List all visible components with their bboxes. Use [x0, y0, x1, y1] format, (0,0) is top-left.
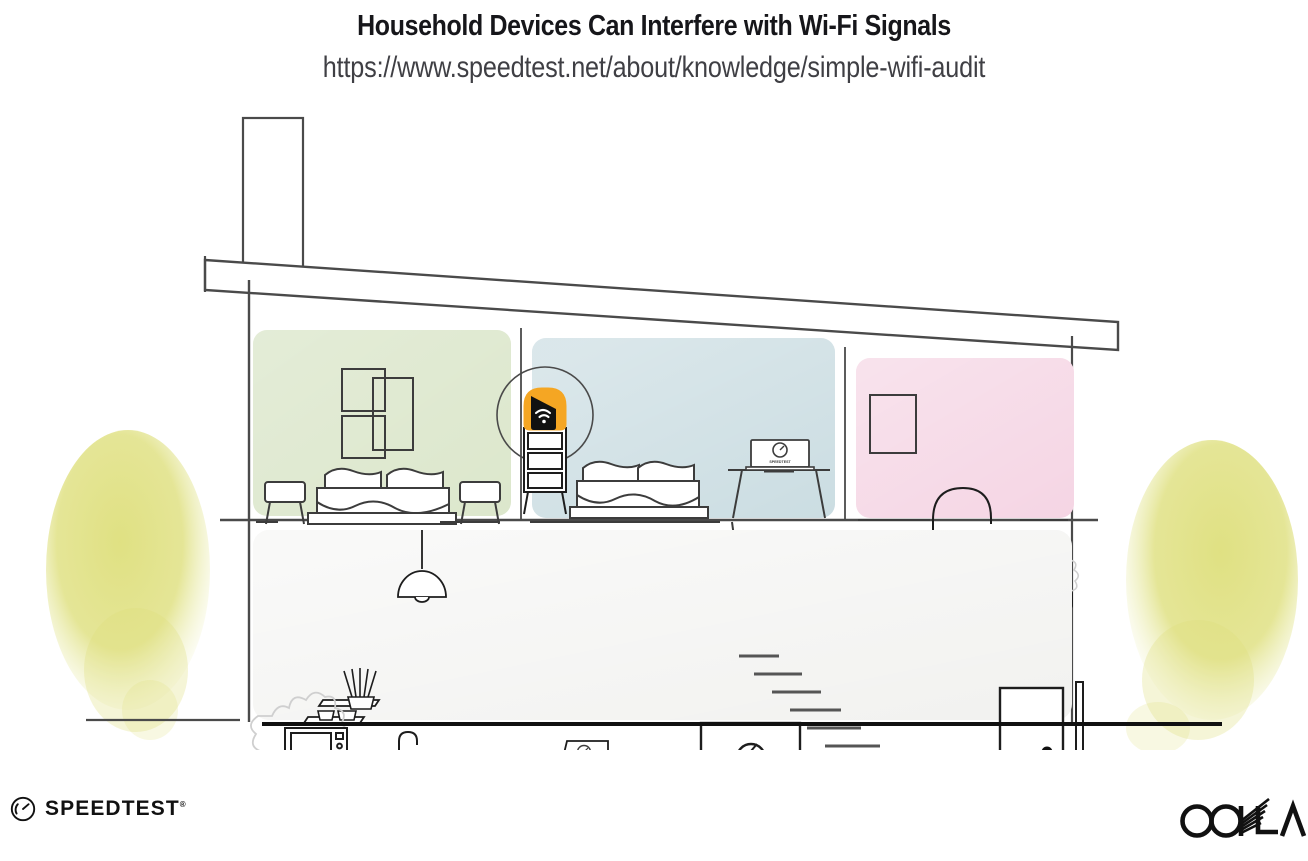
wifi-dot: [542, 420, 546, 424]
speedtest-wordmark: SPEEDTEST®: [45, 797, 186, 821]
speedtest-wordmark-text: SPEEDTEST: [45, 797, 180, 820]
front-door[interactable]: [1000, 688, 1063, 750]
television[interactable]: SPEEDTEST: [701, 723, 800, 750]
speedtest-logo: SPEEDTEST®: [10, 796, 186, 822]
footer: SPEEDTEST® ®: [0, 780, 1308, 861]
ookla-k-rays: [1241, 799, 1269, 833]
laptop-bedroom[interactable]: SPEEDTEST: [746, 440, 814, 470]
laptop-base-line: [764, 470, 794, 473]
speedtest-gauge-icon-logo: [10, 796, 36, 822]
chimney: [243, 118, 303, 280]
ookla-logomark: ®: [1174, 798, 1308, 844]
nightstand-right: [460, 482, 500, 524]
room-living-kitchen: SPEEDTEST: [251, 530, 1083, 750]
bed-green: [308, 469, 456, 524]
wifi-router-badge[interactable]: [524, 388, 566, 430]
source-url: https://www.speedtest.net/about/knowledg…: [105, 43, 1204, 85]
room-bedroom-green: [253, 330, 511, 524]
ookla-logo: ®: [1174, 798, 1308, 849]
house-illustration: SPEEDTEST: [0, 110, 1308, 750]
infographic-page: Household Devices Can Interfere with Wi-…: [0, 0, 1308, 861]
registered-mark-icon: ®: [180, 800, 186, 809]
laptop-dining[interactable]: SPEEDTEST: [561, 741, 608, 750]
laptop-screen-label: SPEEDTEST: [769, 460, 791, 464]
header: Household Devices Can Interfere with Wi-…: [0, 0, 1308, 85]
page-title: Household Devices Can Interfere with Wi-…: [92, 0, 1217, 43]
tree-left: [46, 430, 210, 740]
tree-right: [1126, 440, 1298, 750]
nightstand-left: [265, 482, 305, 524]
sink-faucet: [399, 732, 417, 750]
window-strip: [1076, 682, 1083, 750]
microwave: [285, 728, 347, 750]
